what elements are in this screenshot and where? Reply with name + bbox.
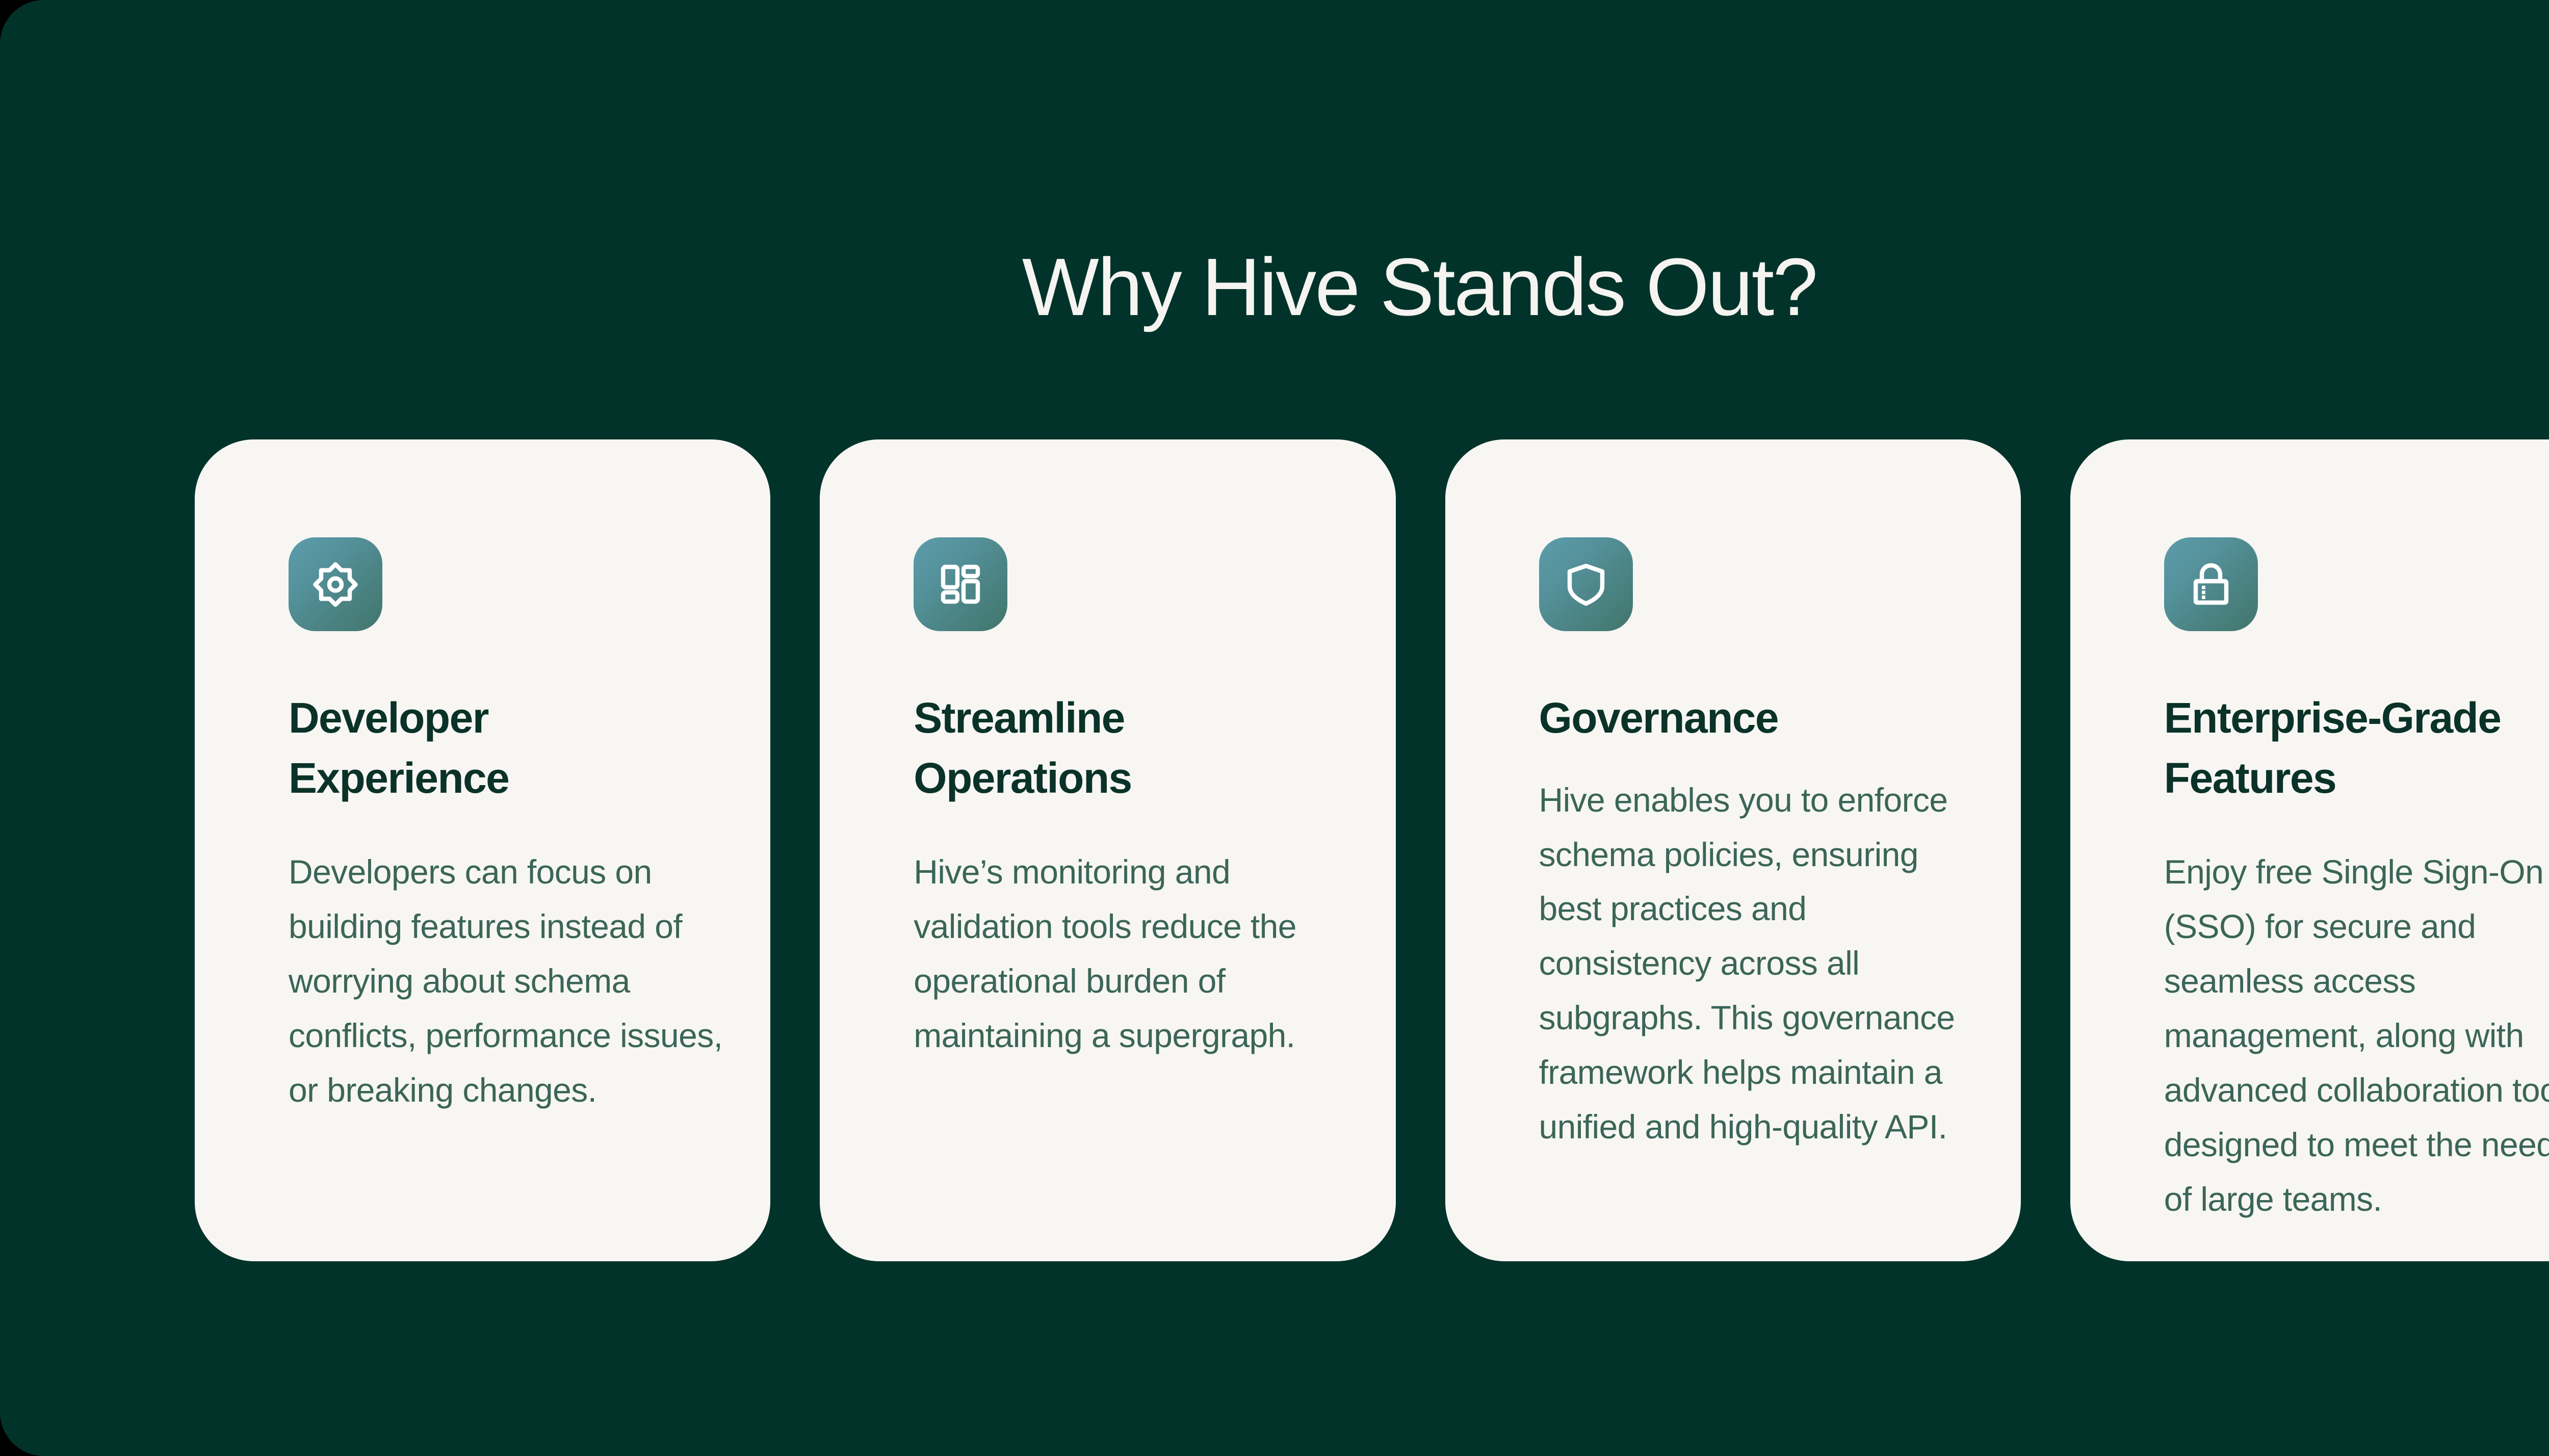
- page-title: Why Hive Stands Out?: [0, 243, 2549, 331]
- feature-card-body: Developers can focus on building feature…: [289, 845, 727, 1117]
- feature-card-body: Enjoy free Single Sign-On (SSO) for secu…: [2164, 845, 2549, 1226]
- feature-card-title: Streamline Operations: [914, 688, 1301, 808]
- feature-card-title: Developer Experience: [289, 688, 676, 808]
- feature-card-body: Hive enables you to enforce schema polic…: [1539, 773, 1978, 1154]
- feature-card-title: Governance: [1539, 688, 1927, 748]
- feature-card-developer-experience[interactable]: Developer Experience Developers can focu…: [195, 439, 770, 1261]
- feature-card-streamline-operations[interactable]: Streamline Operations Hive’s monitoring …: [820, 439, 1395, 1261]
- lock-icon: [2164, 537, 2258, 631]
- feature-card-title: Enterprise-Grade Features: [2164, 688, 2549, 808]
- feature-card-governance[interactable]: Governance Hive enables you to enforce s…: [1445, 439, 2021, 1261]
- feature-card-body: Hive’s monitoring and validation tools r…: [914, 845, 1352, 1063]
- shield-icon: [1539, 537, 1633, 631]
- feature-card-enterprise-grade-features[interactable]: Enterprise-Grade Features Enjoy free Sin…: [2070, 439, 2549, 1261]
- dashboard-layout-icon: [914, 537, 1007, 631]
- feature-card-list: Developer Experience Developers can focu…: [195, 439, 2549, 1261]
- feature-section: Why Hive Stands Out? Developer Experienc…: [0, 0, 2549, 1456]
- gear-icon: [289, 537, 382, 631]
